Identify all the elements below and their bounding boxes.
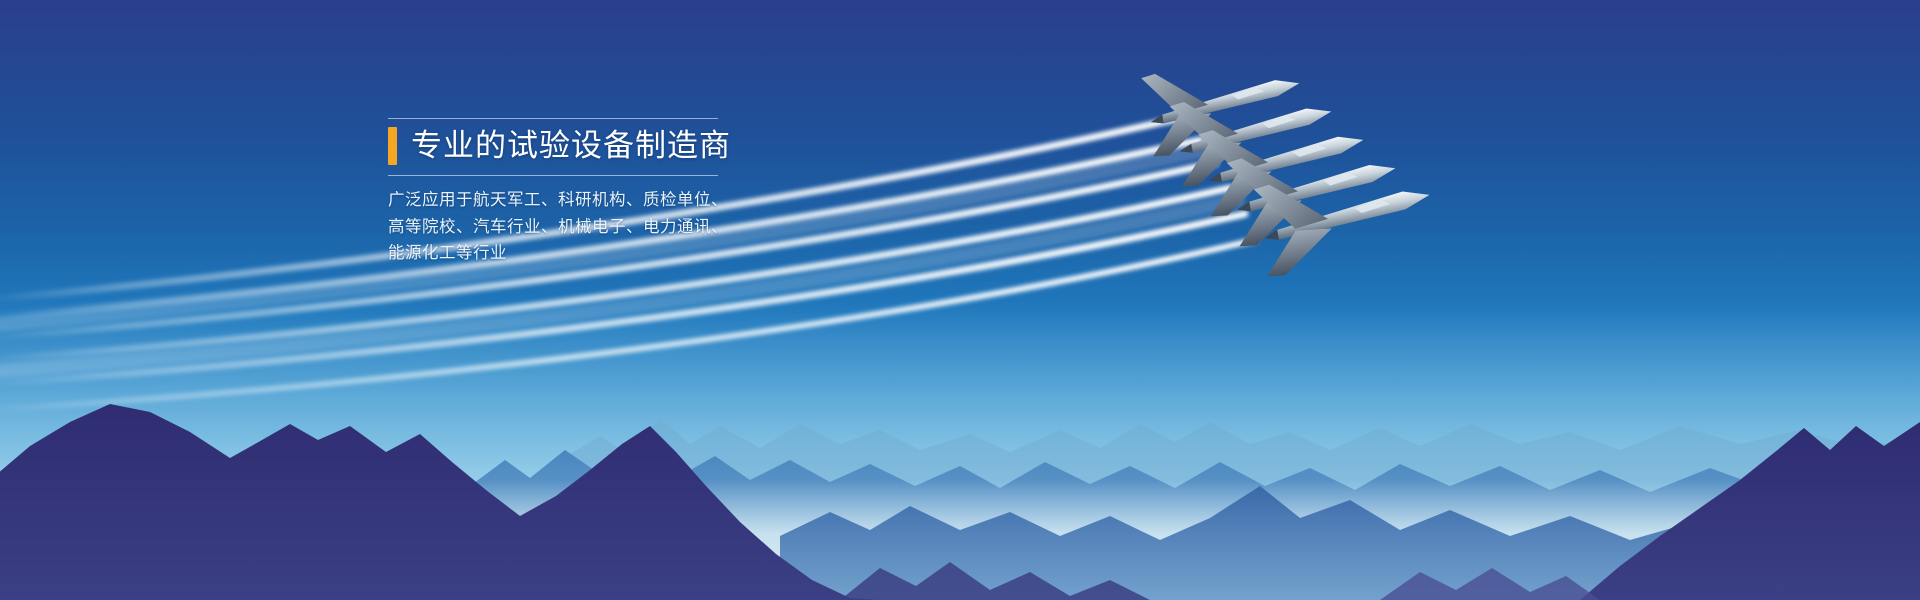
hero-text-block: 专业的试验设备制造商 广泛应用于航天军工、科研机构、质检单位、 高等院校、汽车行…	[388, 118, 748, 267]
subtitle-block: 广泛应用于航天军工、科研机构、质检单位、 高等院校、汽车行业、机械电子、电力通讯…	[388, 187, 748, 267]
fighter-jet-formation-icon	[1120, 40, 1520, 280]
subtitle-line-2: 高等院校、汽车行业、机械电子、电力通讯、	[388, 214, 748, 241]
headline-row: 专业的试验设备制造商	[388, 119, 748, 171]
mountain-range-silhouette	[0, 340, 1920, 600]
rule-bottom	[388, 175, 718, 176]
subtitle-line-1: 广泛应用于航天军工、科研机构、质检单位、	[388, 187, 748, 214]
accent-bar	[388, 127, 397, 165]
mountains-layer	[0, 340, 1920, 600]
jet-formation	[1120, 40, 1520, 280]
subtitle-line-3: 能源化工等行业	[388, 240, 748, 267]
hero-banner: 专业的试验设备制造商 广泛应用于航天军工、科研机构、质检单位、 高等院校、汽车行…	[0, 0, 1920, 600]
page-title: 专业的试验设备制造商	[411, 131, 731, 162]
